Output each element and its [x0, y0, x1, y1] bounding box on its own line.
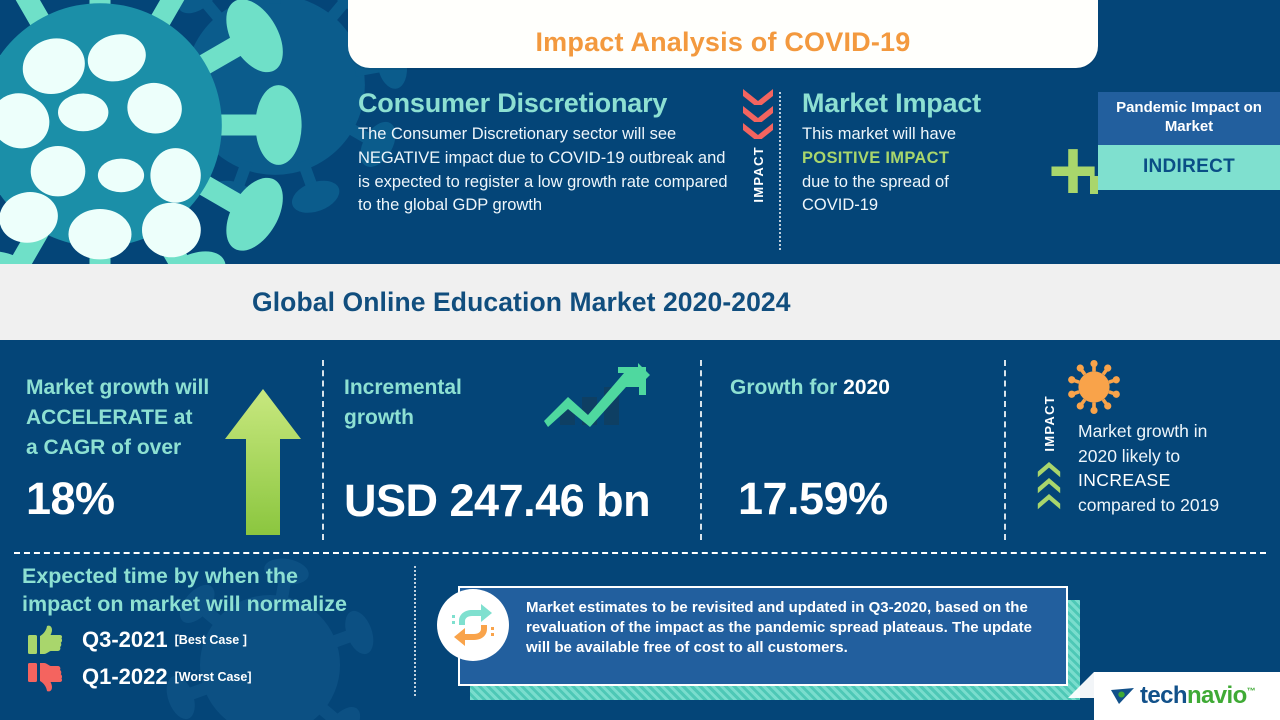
arrow-up-wrapper	[222, 387, 304, 540]
logo-text-navio: navio	[1187, 682, 1247, 709]
impact-2020-inner: IMPACT Market growth in 2020 likely to I…	[1020, 361, 1280, 545]
cagr-stat: Market growth will ACCELERATE at a CAGR …	[0, 355, 322, 545]
trend-up-chart-icon	[538, 357, 656, 429]
impact-label: IMPACT	[1042, 395, 1057, 452]
market-impact-line-3: COVID-19	[802, 194, 1028, 218]
trend-chart-wrapper	[538, 357, 656, 434]
normalize-title: Expected time by when the impact on mark…	[22, 563, 432, 619]
pandemic-impact-value: INDIRECT	[1098, 145, 1280, 190]
worst-case-row: Q1-2022 [Worst Case]	[22, 661, 432, 693]
impact-2020-line-1: Market growth in	[1078, 419, 1219, 444]
growth-2020-value: 17.59%	[738, 473, 888, 525]
incremental-growth-value: USD 247.46 bn	[344, 475, 650, 527]
report-title: Global Online Education Market 2020-2024	[252, 287, 791, 318]
market-impact-line-1: This market will have	[802, 123, 1028, 147]
header-title-card: Impact Analysis of COVID-19	[348, 0, 1098, 68]
refresh-cycle-icon	[449, 601, 497, 649]
horizontal-dashed-divider	[14, 552, 1266, 554]
best-case-quarter: Q3-2021	[82, 627, 168, 653]
impact-2020-line-2: 2020 likely to	[1078, 444, 1219, 469]
note-icon-circle	[437, 589, 509, 661]
market-impact-body: This market will have POSITIVE IMPACT du…	[802, 123, 1028, 218]
consumer-discretionary-section: Consumer Discretionary The Consumer Disc…	[348, 80, 728, 264]
chevron-down-icon	[741, 105, 775, 122]
thumbs-up-icon	[27, 624, 63, 656]
market-impact-heading: Market Impact	[802, 88, 1028, 119]
vertical-dashed-divider	[1004, 360, 1006, 540]
note-text: Market estimates to be revisited and upd…	[526, 598, 1052, 658]
growth-2020-label-prefix: Growth for	[730, 376, 843, 399]
pandemic-impact-title: Pandemic Impact on Market	[1098, 92, 1280, 145]
market-impact-line-2: due to the spread of	[802, 171, 1028, 195]
market-impact-section: Market Impact This market will have POSI…	[788, 80, 1028, 264]
normalize-time-section: Expected time by when the impact on mark…	[22, 563, 432, 693]
logo-trademark: ™	[1247, 686, 1255, 696]
impact-2020-line-3: compared to 2019	[1078, 493, 1219, 518]
pandemic-impact-card: Pandemic Impact on Market INDIRECT	[1098, 92, 1280, 190]
orange-virus-wrapper	[1064, 357, 1124, 422]
normalize-title-line-2: impact on market will normalize	[22, 591, 432, 619]
best-case-tag: [Best Case ]	[175, 633, 247, 647]
normalize-title-line-1: Expected time by when the	[22, 563, 432, 591]
logo-wordmark: technavio™	[1140, 682, 1255, 710]
cagr-value: 18%	[26, 473, 115, 525]
logo-text-tech: tech	[1140, 682, 1187, 709]
impact-label: IMPACT	[751, 146, 766, 203]
chevron-up-icon	[1033, 462, 1065, 478]
chevron-down-stack	[741, 88, 775, 139]
chevron-up-icon	[1033, 494, 1065, 510]
card-accent-tab	[1090, 176, 1098, 194]
virus-icon	[1064, 357, 1124, 417]
growth-2020-label: Growth for 2020	[730, 373, 1006, 403]
market-impact-emphasis: POSITIVE IMPACT	[802, 147, 1028, 171]
thumbs-up-wrapper	[22, 624, 68, 656]
triangle-arrow-icon	[1110, 686, 1136, 706]
page-title: Impact Analysis of COVID-19	[535, 27, 910, 58]
note-box: Market estimates to be revisited and upd…	[458, 586, 1068, 686]
consumer-discretionary-body: The Consumer Discretionary sector will s…	[358, 123, 728, 218]
worst-case-quarter: Q1-2022	[82, 664, 168, 690]
arrow-up-icon	[222, 387, 304, 535]
vertical-dashed-divider	[322, 360, 324, 540]
vertical-dotted-divider	[414, 566, 416, 696]
impact-2020-stat: IMPACT Market growth in 2020 likely to I…	[1006, 355, 1280, 545]
worst-case-tag: [Worst Case]	[175, 670, 252, 684]
incremental-growth-stat: Incremental growth USD 247.46 bn	[322, 355, 694, 545]
key-stats-row: Market growth will ACCELERATE at a CAGR …	[0, 355, 1280, 545]
vertical-dashed-divider	[700, 360, 702, 540]
thumbs-down-icon	[27, 661, 63, 693]
infographic-page: Impact Analysis of COVID-19 Consumer Dis…	[0, 0, 1280, 720]
impact-analysis-band: Consumer Discretionary The Consumer Disc…	[0, 80, 1280, 264]
chevron-down-icon	[741, 88, 775, 105]
best-case-row: Q3-2021 [Best Case ]	[22, 624, 432, 656]
report-title-strip: Global Online Education Market 2020-2024	[0, 264, 1280, 340]
growth-2020-stat: Growth for 2020 17.59%	[694, 355, 1006, 545]
vertical-dotted-divider	[779, 92, 781, 250]
thumbs-down-wrapper	[22, 661, 68, 693]
chevron-down-icon	[741, 122, 775, 139]
impact-2020-emphasis: INCREASE	[1078, 470, 1171, 490]
technavio-logo: technavio™	[1094, 672, 1280, 720]
chevron-up-stack	[1033, 462, 1065, 510]
growth-2020-label-year: 2020	[843, 376, 890, 399]
chevron-up-icon	[1033, 478, 1065, 494]
consumer-discretionary-heading: Consumer Discretionary	[358, 88, 728, 119]
